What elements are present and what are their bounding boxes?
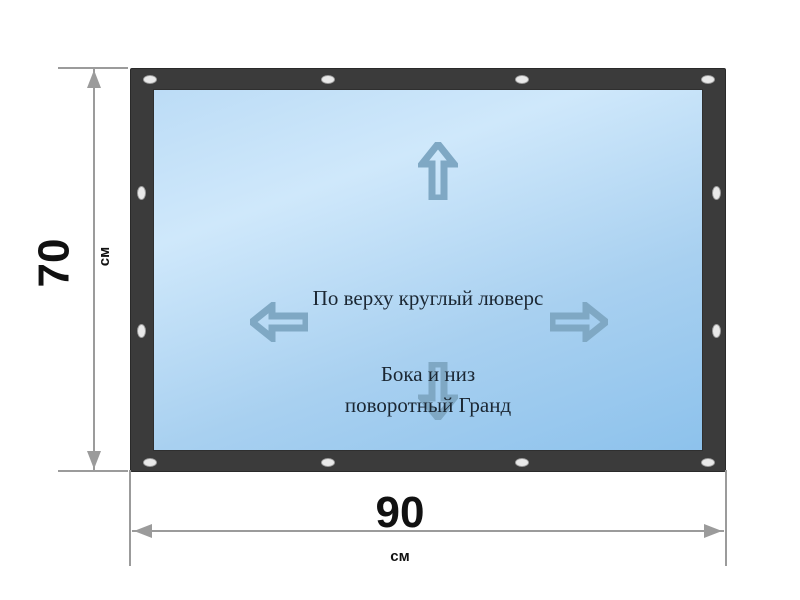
eyelet-bottom-1 bbox=[321, 458, 335, 467]
banner-panel: По верху круглый люверс Бока и низ повор… bbox=[153, 89, 703, 451]
eyelet-bottom-2 bbox=[515, 458, 529, 467]
eyelet-top-right-corner bbox=[701, 75, 715, 84]
eyelet-top-left-corner bbox=[143, 75, 157, 84]
width-unit: см bbox=[0, 548, 800, 565]
width-value: 90 bbox=[0, 488, 800, 538]
eyelet-bottom-right-corner bbox=[701, 458, 715, 467]
eyelet-left-1 bbox=[137, 186, 146, 200]
eyelet-bottom-left-corner bbox=[143, 458, 157, 467]
banner-dimension-diagram: По верху круглый люверс Бока и низ повор… bbox=[0, 0, 800, 600]
panel-label-top: По верху круглый люверс bbox=[154, 286, 702, 311]
eyelet-top-1 bbox=[321, 75, 335, 84]
panel-label-middle: Бока и низ bbox=[154, 362, 702, 387]
arrow-up-icon bbox=[418, 142, 458, 205]
panel-label-bottom: поворотный Гранд bbox=[154, 393, 702, 418]
eyelet-left-2 bbox=[137, 324, 146, 338]
height-value: 70 bbox=[29, 239, 79, 288]
height-unit: см bbox=[96, 247, 113, 266]
banner-frame: По верху круглый люверс Бока и низ повор… bbox=[130, 68, 726, 472]
eyelet-right-1 bbox=[712, 186, 721, 200]
eyelet-top-2 bbox=[515, 75, 529, 84]
eyelet-right-2 bbox=[712, 324, 721, 338]
